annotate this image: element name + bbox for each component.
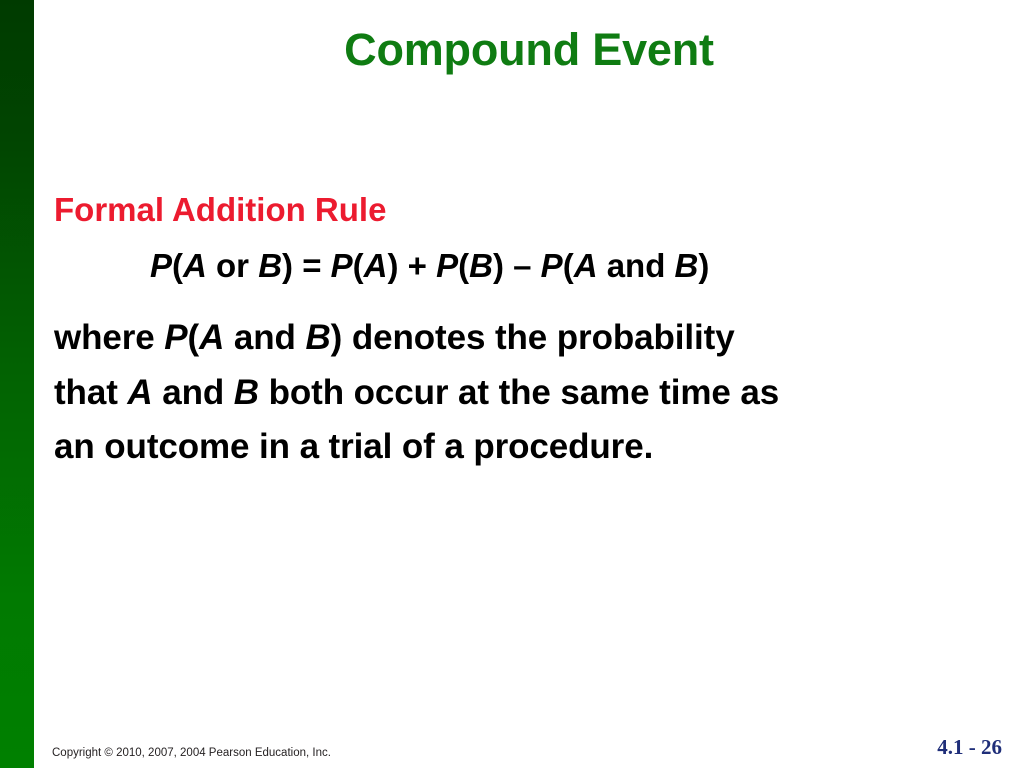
definition-paragraph: where P(A and B) denotes the probability… [54,311,1014,475]
definition-line: where P(A and B) denotes the probability [54,311,1014,366]
green-gradient-bar [0,0,34,768]
definition-line: an outcome in a trial of a procedure. [54,420,1014,475]
definition-line: that A and B both occur at the same time… [54,366,1014,421]
page-title: Compound Event [34,26,1024,73]
copyright-notice: Copyright © 2010, 2007, 2004 Pearson Edu… [52,747,331,759]
rule-heading: Formal Addition Rule [54,192,1014,228]
slide-body: Formal Addition Rule P(A or B) = P(A) + … [54,192,1014,475]
slide-canvas: Compound Event Formal Addition Rule P(A … [0,0,1024,768]
page-number: 4.1 - 26 [937,735,1002,760]
addition-rule-formula: P(A or B) = P(A) + P(B) – P(A and B) [54,247,1014,285]
